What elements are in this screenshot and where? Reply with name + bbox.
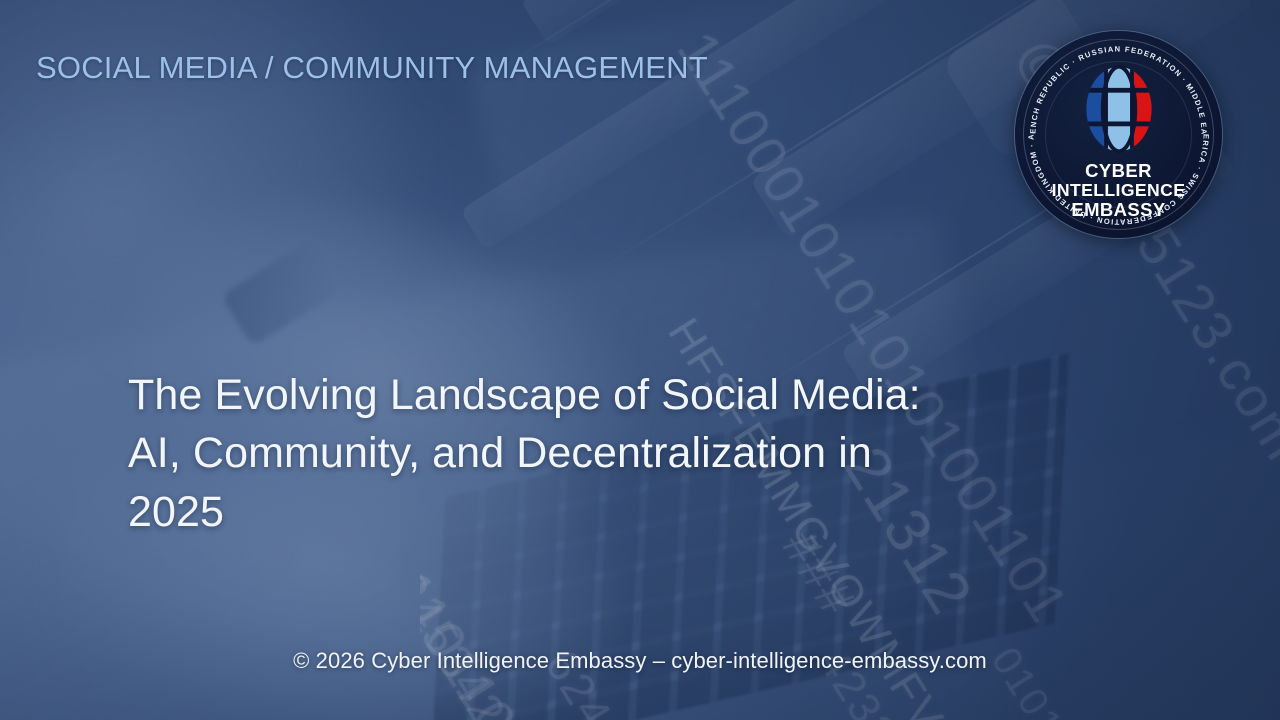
cyber-intelligence-embassy-logo: EUROPEAN UNION · FRENCH REPUBLIC · RUSSI…: [1015, 31, 1222, 238]
footer-copyright: © 2026 Cyber Intelligence Embassy – cybe…: [0, 648, 1280, 674]
logo-wordmark-line3: EMBASSY: [1015, 200, 1222, 220]
slide-title: The Evolving Landscape of Social Media: …: [128, 366, 958, 541]
category-label: SOCIAL MEDIA / COMMUNITY MANAGEMENT: [36, 50, 708, 86]
globe-icon: [1071, 61, 1167, 157]
logo-wordmark-line2: INTELLIGENCE: [1015, 181, 1222, 200]
logo-wordmark-line1: CYBER: [1015, 161, 1222, 181]
presentation-slide: 111000101010101001101 000111001101100110…: [0, 0, 1280, 720]
logo-wordmark: CYBER INTELLIGENCE EMBASSY: [1015, 161, 1222, 220]
